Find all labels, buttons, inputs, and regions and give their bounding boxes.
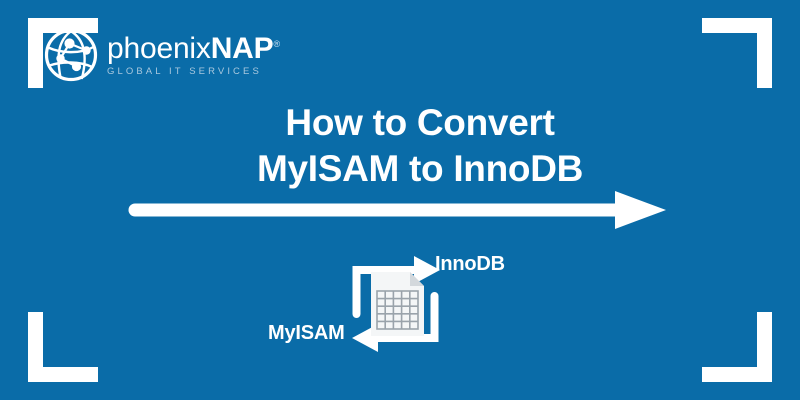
corner-bracket-bottom-left — [28, 312, 98, 382]
phoenixnap-logo[interactable]: phoenixNAP® GLOBAL IT SERVICES — [44, 28, 280, 82]
corner-bracket-bottom-right — [702, 312, 772, 382]
bracket-arm-vertical — [757, 312, 772, 382]
logo-tagline: GLOBAL IT SERVICES — [107, 66, 280, 77]
title-line-2: MyISAM to InnoDB — [40, 146, 800, 192]
bracket-arm-vertical — [28, 312, 43, 382]
logo-word-nap: NAP — [211, 32, 274, 65]
table-document-icon — [371, 272, 424, 336]
right-arrow-icon — [126, 190, 672, 235]
bracket-arm-vertical — [757, 18, 772, 88]
diagram-label-myisam: MyISAM — [268, 322, 345, 345]
page-title: How to Convert MyISAM to InnoDB — [0, 100, 800, 192]
title-line-1: How to Convert — [40, 100, 800, 146]
corner-bracket-top-right — [702, 18, 772, 88]
bracket-arm-vertical — [28, 18, 43, 88]
globe-network-icon — [44, 28, 98, 82]
diagram-label-innodb: InnoDB — [435, 253, 505, 276]
registered-mark: ® — [273, 39, 279, 49]
article-banner: phoenixNAP® GLOBAL IT SERVICES How to Co… — [0, 0, 800, 400]
logo-wordmark: phoenixNAP® GLOBAL IT SERVICES — [107, 34, 280, 77]
logo-word-phoenix: phoenix — [107, 32, 211, 65]
logo-word-row: phoenixNAP® — [107, 34, 280, 64]
